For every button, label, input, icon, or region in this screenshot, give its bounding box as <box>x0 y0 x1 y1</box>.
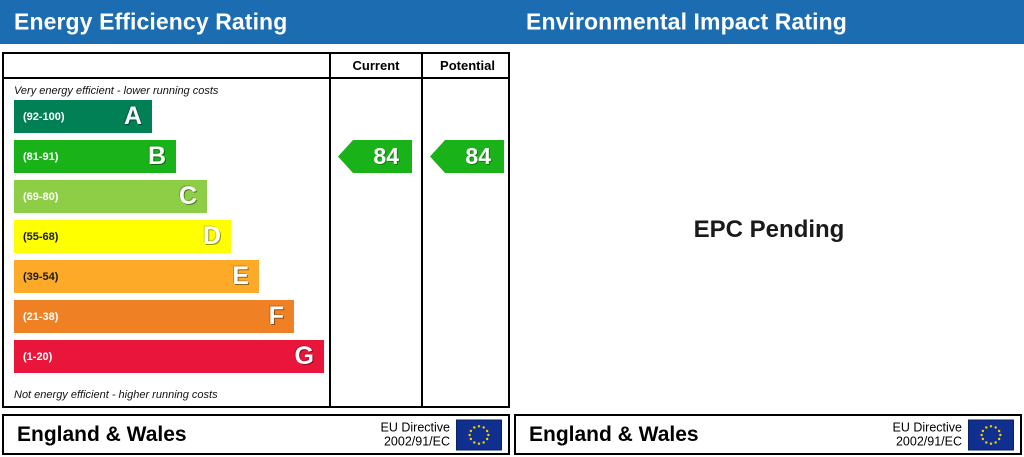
energy-efficiency-chart: Current Potential Very energy efficient … <box>2 52 510 408</box>
column-header-current: Current <box>329 54 421 77</box>
epc-certificate-graphic: Energy Efficiency Rating Environmental I… <box>0 0 1024 457</box>
rating-band-c: (69-80) C <box>14 180 207 213</box>
rating-bands-area: Very energy efficient - lower running co… <box>4 79 329 406</box>
rating-band-g: (1-20) G <box>14 340 324 373</box>
footer-directive-left: EU Directive 2002/91/EC <box>381 420 450 450</box>
column-header-bands <box>4 54 329 77</box>
band-e-range: (39-54) <box>23 271 58 283</box>
rating-band-d: (55-68) D <box>14 220 231 253</box>
band-f-range: (21-38) <box>23 311 58 323</box>
environmental-impact-header: Environmental Impact Rating <box>512 0 1024 44</box>
column-divider-potential <box>421 79 423 406</box>
band-g-letter: G <box>295 344 314 369</box>
potential-rating-arrow: 84 <box>430 140 504 173</box>
band-d-letter: D <box>203 224 221 249</box>
band-d-range: (55-68) <box>23 231 58 243</box>
energy-efficiency-title: Energy Efficiency Rating <box>14 9 287 36</box>
eu-flag-stars-icon <box>457 420 501 449</box>
rating-band-b: (81-91) B <box>14 140 176 173</box>
footer-left: England & Wales EU Directive 2002/91/EC <box>2 414 510 455</box>
note-not-efficient: Not energy efficient - higher running co… <box>14 389 218 401</box>
band-b-letter: B <box>148 144 166 169</box>
band-c-range: (69-80) <box>23 191 58 203</box>
footer-region-label-right: England & Wales <box>529 423 699 447</box>
current-rating-arrow: 84 <box>338 140 412 173</box>
band-a-letter: A <box>124 104 142 129</box>
band-f-letter: F <box>269 304 284 329</box>
band-b-range: (81-91) <box>23 151 58 163</box>
rating-band-e: (39-54) E <box>14 260 259 293</box>
epc-pending-message: EPC Pending <box>694 216 845 244</box>
footer-directive-line2-left: 2002/91/EC <box>381 435 450 450</box>
band-g-range: (1-20) <box>23 351 52 363</box>
band-e-letter: E <box>232 264 249 289</box>
eu-flag-icon <box>968 419 1014 450</box>
band-a-range: (92-100) <box>23 111 65 123</box>
footer-directive-line2-right: 2002/91/EC <box>893 435 962 450</box>
rating-band-a: (92-100) A <box>14 100 152 133</box>
footer-region-label-left: England & Wales <box>17 423 187 447</box>
footer-right: England & Wales EU Directive 2002/91/EC <box>514 414 1022 455</box>
energy-efficiency-header: Energy Efficiency Rating <box>0 0 512 44</box>
footer-directive-line1-right: EU Directive <box>893 420 962 435</box>
rating-band-f: (21-38) F <box>14 300 294 333</box>
band-c-letter: C <box>179 184 197 209</box>
chart-column-headers: Current Potential <box>4 54 508 79</box>
footer-directive-line1-left: EU Directive <box>381 420 450 435</box>
eu-flag-stars-icon <box>969 420 1013 449</box>
environmental-impact-title: Environmental Impact Rating <box>526 9 847 36</box>
footer-directive-right: EU Directive 2002/91/EC <box>893 420 962 450</box>
note-very-efficient: Very energy efficient - lower running co… <box>14 85 218 97</box>
column-header-potential: Potential <box>421 54 512 77</box>
environmental-impact-panel: EPC Pending <box>514 52 1024 408</box>
eu-flag-icon <box>456 419 502 450</box>
column-divider-current <box>329 79 331 406</box>
